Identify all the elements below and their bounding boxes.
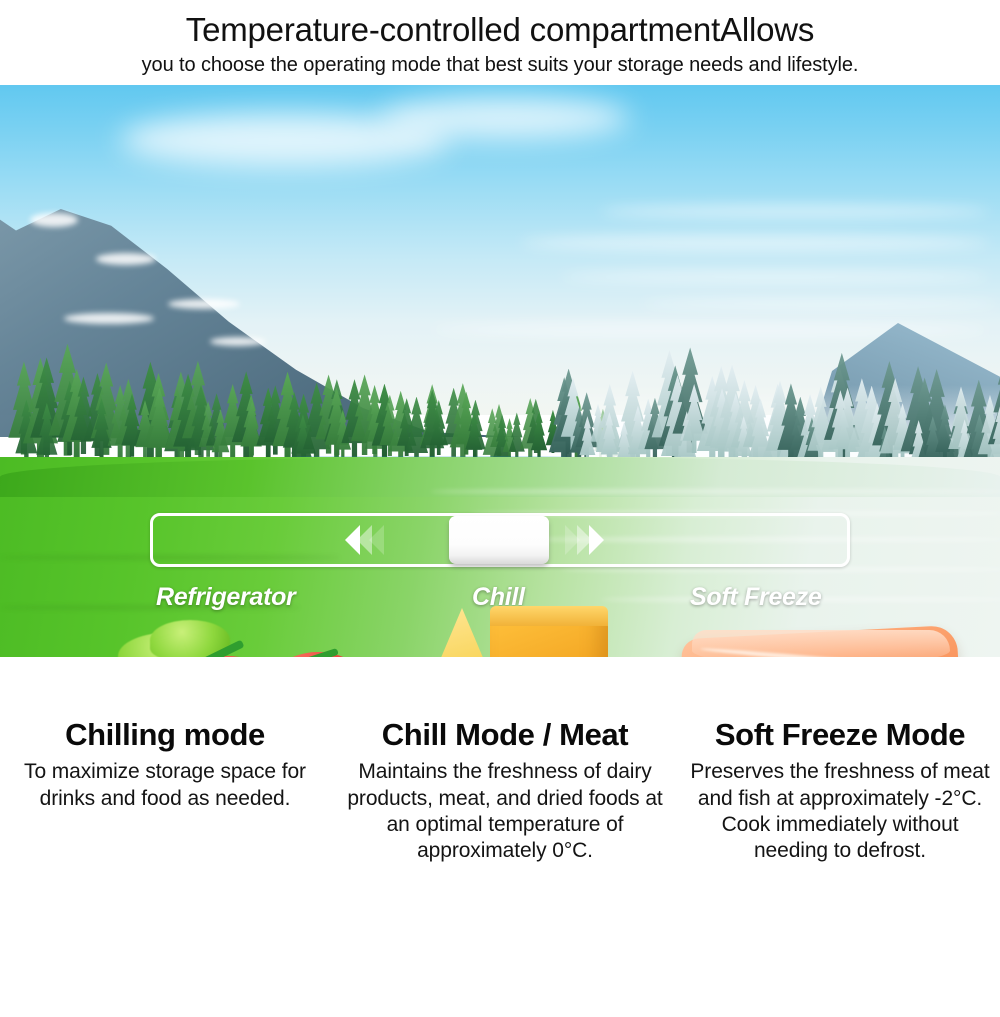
mode-descriptions: Chilling mode To maximize storage space … (0, 718, 1000, 865)
snow-patch (96, 253, 156, 265)
page-title: Temperature-controlled compartmentAllows (20, 12, 980, 49)
header: Temperature-controlled compartmentAllows… (0, 0, 1000, 85)
cloud-streak (520, 235, 990, 251)
cloud-streak (560, 271, 990, 283)
snow-patch (30, 213, 78, 227)
forest-winter (540, 335, 1000, 475)
mode-title: Chilling mode (8, 718, 322, 752)
slider-label-refrigerator[interactable]: Refrigerator (156, 583, 296, 612)
forest-summer (0, 325, 620, 470)
chevron-double-right-icon[interactable] (565, 525, 604, 555)
chevron-double-left-icon[interactable] (345, 525, 384, 555)
mode-column-chilling: Chilling mode To maximize storage space … (0, 718, 330, 865)
cloud-shape (380, 97, 630, 139)
temperature-mode-slider[interactable] (150, 513, 850, 567)
slider-label-chill[interactable]: Chill (472, 583, 525, 612)
mode-title: Soft Freeze Mode (688, 718, 992, 752)
mode-description: To maximize storage space for drinks and… (8, 759, 322, 812)
mode-column-soft-freeze: Soft Freeze Mode Preserves the freshness… (680, 718, 1000, 865)
mode-column-chill-meat: Chill Mode / Meat Maintains the freshnes… (330, 718, 680, 865)
frost-stripe (430, 489, 1000, 494)
hero-scene: Refrigerator Chill Soft Freeze (0, 85, 1000, 657)
snow-patch (168, 299, 240, 309)
slider-label-soft-freeze[interactable]: Soft Freeze (690, 583, 821, 612)
mode-title: Chill Mode / Meat (338, 718, 672, 752)
cloud-streak (600, 205, 990, 218)
infographic-page: Temperature-controlled compartmentAllows… (0, 0, 1000, 1017)
slider-handle[interactable] (449, 516, 549, 564)
snow-patch (64, 313, 154, 324)
slider-stop-labels: Refrigerator Chill Soft Freeze (150, 583, 890, 615)
cloud-streak (640, 299, 1000, 309)
frost-stripe (560, 567, 1000, 572)
mode-description: Preserves the freshness of meat and fish… (688, 759, 992, 865)
page-subtitle: you to choose the operating mode that be… (20, 53, 980, 77)
mode-description: Maintains the freshness of dairy product… (338, 759, 672, 865)
